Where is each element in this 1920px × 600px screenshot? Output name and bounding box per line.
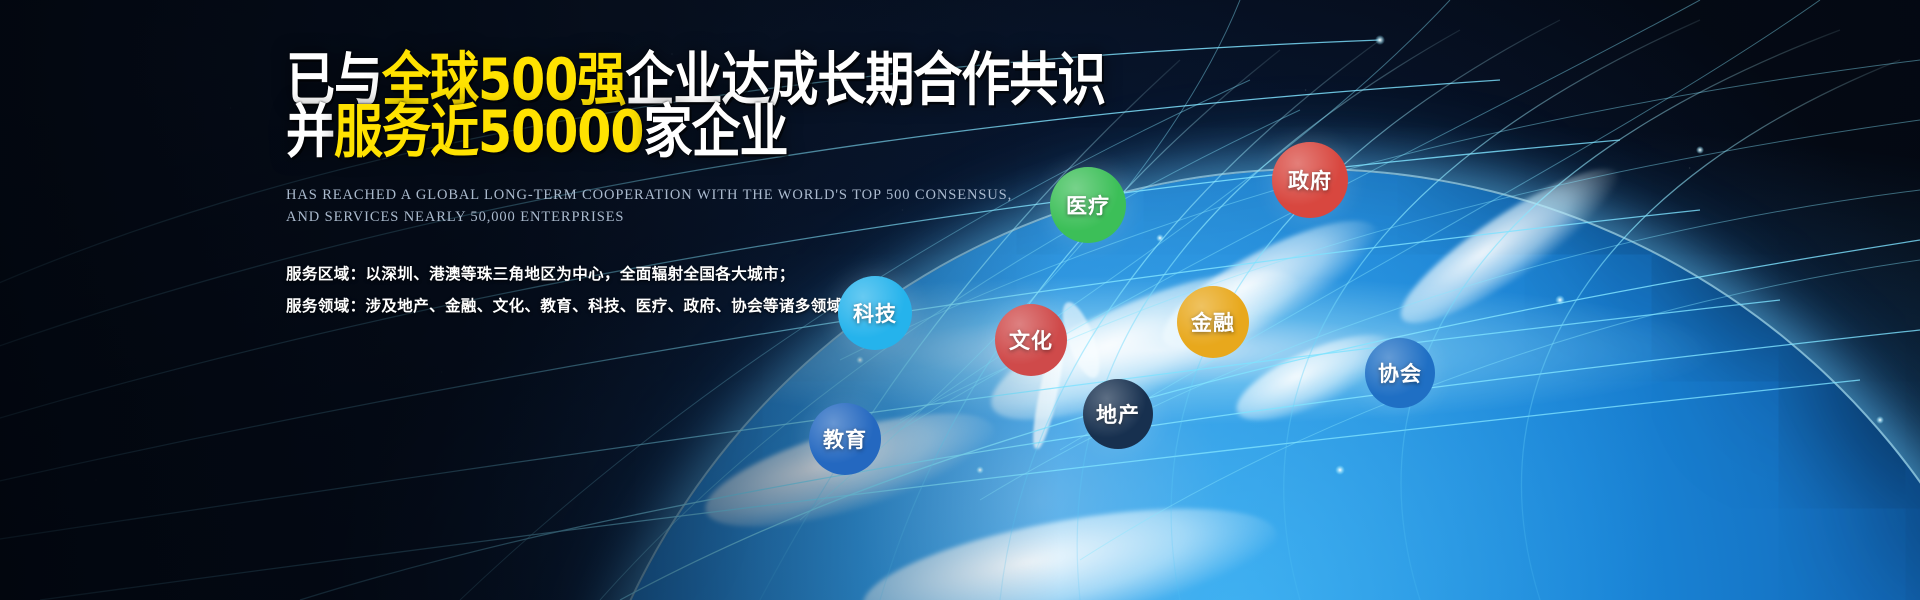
industry-bubble-label: 地产 bbox=[1096, 399, 1140, 429]
industry-bubble-label: 医疗 bbox=[1066, 190, 1110, 220]
copy-block: 已与全球500强企业达成长期合作共识 并服务近50000家企业 HAS REAC… bbox=[286, 50, 1046, 322]
headline-seg: 并 bbox=[286, 98, 334, 165]
industry-bubble[interactable]: 科技 bbox=[838, 276, 912, 350]
headline-seg: 家企业 bbox=[644, 98, 788, 165]
industry-bubble-label: 科技 bbox=[853, 298, 897, 328]
industry-bubble[interactable]: 地产 bbox=[1083, 379, 1153, 449]
headline-line-2: 并服务近50000家企业 bbox=[286, 102, 1046, 163]
industry-bubble-label: 文化 bbox=[1009, 325, 1053, 355]
subtitle: HAS REACHED A GLOBAL LONG-TERM COOPERATI… bbox=[286, 184, 1046, 229]
industry-bubble[interactable]: 教育 bbox=[809, 403, 881, 475]
industry-bubble-label: 协会 bbox=[1378, 358, 1422, 388]
industry-bubble[interactable]: 医疗 bbox=[1050, 167, 1126, 243]
subtitle-line-2: AND SERVICES NEARLY 50,000 ENTERPRISES bbox=[286, 206, 1046, 228]
industry-bubble[interactable]: 文化 bbox=[995, 304, 1067, 376]
industry-bubble-label: 金融 bbox=[1191, 307, 1235, 337]
body-text: 服务区域：以深圳、港澳等珠三角地区为中心，全面辐射全国各大城市； 服务领域：涉及… bbox=[286, 259, 1046, 323]
industry-bubble[interactable]: 金融 bbox=[1177, 286, 1249, 358]
body-line-service-area: 服务区域：以深圳、港澳等珠三角地区为中心，全面辐射全国各大城市； bbox=[286, 259, 1046, 291]
industry-bubble-label: 教育 bbox=[823, 424, 867, 454]
headline: 已与全球500强企业达成长期合作共识 并服务近50000家企业 bbox=[286, 50, 1046, 154]
industry-bubble-label: 政府 bbox=[1288, 165, 1332, 195]
industry-bubble[interactable]: 政府 bbox=[1272, 142, 1348, 218]
banner-stage: 已与全球500强企业达成长期合作共识 并服务近50000家企业 HAS REAC… bbox=[0, 0, 1920, 600]
industry-bubble[interactable]: 协会 bbox=[1365, 338, 1435, 408]
body-line-service-fields: 服务领域：涉及地产、金融、文化、教育、科技、医疗、政府、协会等诸多领域。 bbox=[286, 291, 1046, 323]
headline-seg-highlight: 服务近50000 bbox=[334, 98, 643, 165]
subtitle-line-1: HAS REACHED A GLOBAL LONG-TERM COOPERATI… bbox=[286, 184, 1046, 206]
